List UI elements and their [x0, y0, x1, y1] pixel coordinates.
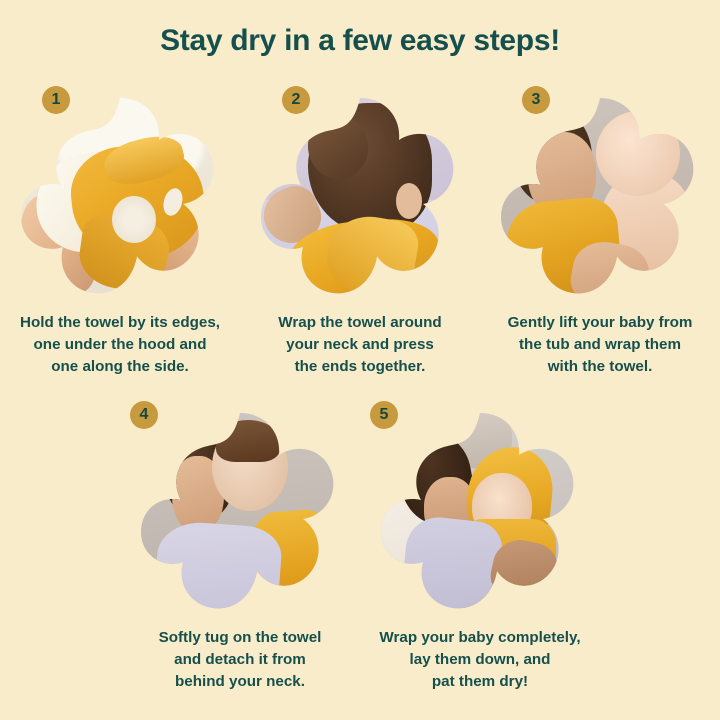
step-card-3: 3: [480, 80, 720, 390]
step-card-2: 2: [240, 80, 480, 390]
step-caption-5: Wrap your baby completely, lay them down…: [360, 627, 600, 693]
photo-step-5: [380, 405, 580, 617]
step-card-1: 1: [0, 80, 240, 390]
step-caption-2: Wrap the towel around your neck and pres…: [240, 312, 480, 378]
step-caption-4: Softly tug on the towel and detach it fr…: [120, 627, 360, 693]
infographic-poster: Stay dry in a few easy steps! 1: [0, 0, 720, 720]
step-image-4: [140, 405, 340, 617]
photo-step-2: [260, 90, 460, 302]
photo-step-3: [500, 90, 700, 302]
flower-mask-5: [380, 405, 580, 617]
flower-mask-4: [140, 405, 340, 617]
step-image-2: [260, 90, 460, 302]
step-image-5: [380, 405, 580, 617]
step-card-5: 5: [360, 395, 600, 705]
step-number-badge-4: 4: [130, 401, 158, 429]
flower-mask-2: [260, 90, 460, 302]
photo-step-4: [140, 405, 340, 617]
step-image-3: [500, 90, 700, 302]
step-caption-3: Gently lift your baby from the tub and w…: [480, 312, 720, 378]
step-number-badge-5: 5: [370, 401, 398, 429]
step-image-1: [20, 90, 220, 302]
flower-mask-1: [20, 90, 220, 302]
step-caption-1: Hold the towel by its edges, one under t…: [0, 312, 240, 378]
step-number-badge-1: 1: [42, 86, 70, 114]
page-title: Stay dry in a few easy steps!: [0, 24, 720, 58]
photo-step-1: [20, 90, 220, 302]
steps-row-bottom: 4: [0, 395, 720, 705]
step-number-badge-2: 2: [282, 86, 310, 114]
steps-row-top: 1: [0, 80, 720, 390]
step-card-4: 4: [120, 395, 360, 705]
flower-mask-3: [500, 90, 700, 302]
step-number-badge-3: 3: [522, 86, 550, 114]
